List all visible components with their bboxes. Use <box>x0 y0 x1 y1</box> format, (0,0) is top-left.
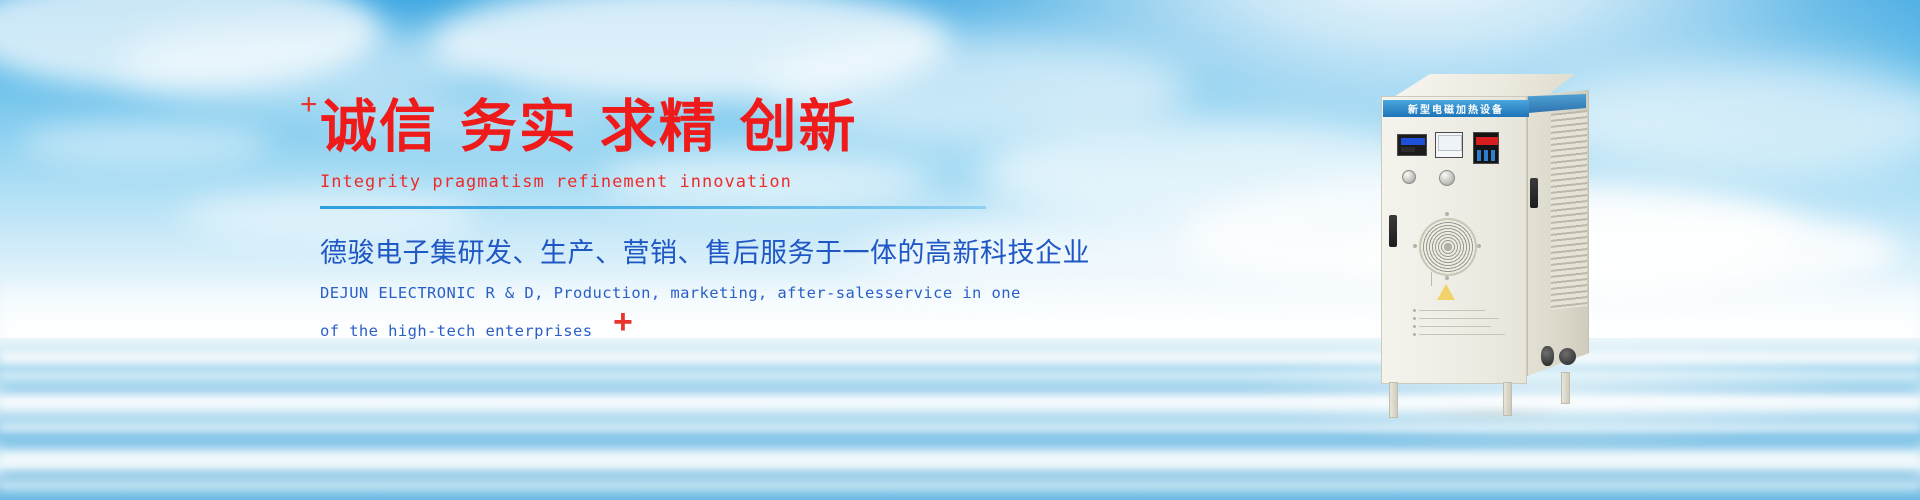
grille-screw <box>1445 276 1449 280</box>
subtitle-english-line1: DEJUN ELECTRONIC R & D, Production, mark… <box>320 279 1020 308</box>
side-door-handle <box>1530 178 1538 208</box>
subtitle-chinese: 德骏电子集研发、生产、营销、售后服务于一体的高新科技企业 <box>320 231 1020 270</box>
control-keypad-panel <box>1473 132 1499 164</box>
spec-text-line <box>1419 326 1491 327</box>
cloud-shape <box>20 120 270 166</box>
gauge-dial <box>1438 135 1462 151</box>
subtitle-english-line2: of the high-tech enterprises <box>320 317 1020 346</box>
tagline-english: Integrity pragmatism refinement innovati… <box>320 172 1020 192</box>
keypad-buttons <box>1477 150 1497 161</box>
hazard-leader-line <box>1431 272 1432 286</box>
spec-bullet <box>1413 317 1416 320</box>
spec-bullet <box>1413 325 1416 328</box>
spec-text-line <box>1419 334 1505 335</box>
machine-vent-louvers <box>1551 110 1587 310</box>
digital-display-meter <box>1397 134 1427 156</box>
analog-gauge-meter <box>1435 132 1463 158</box>
rotary-knob <box>1439 170 1455 186</box>
machine-title-text: 新型电磁加热设备 <box>1408 101 1504 116</box>
door-handle <box>1389 215 1397 247</box>
spec-text-line <box>1419 310 1485 311</box>
rotary-knob <box>1402 170 1416 184</box>
hazard-warning-icon <box>1437 284 1455 300</box>
headline-chinese: 诚信 务实 求精 创新 <box>320 96 1020 160</box>
machine-title-banner: 新型电磁加热设备 <box>1383 100 1529 117</box>
machine-reflection <box>1380 410 1610 444</box>
keypad-display <box>1476 137 1498 145</box>
divider-rule <box>320 206 986 209</box>
cable-port <box>1559 348 1576 365</box>
product-machine-image: 新型电磁加热设备 <box>1375 60 1635 420</box>
grille-screw <box>1413 244 1417 248</box>
display-segment <box>1401 138 1425 145</box>
grille-screw <box>1445 212 1449 216</box>
hero-banner: + + 诚信 务实 求精 创新 Integrity pragmatism ref… <box>0 0 1920 500</box>
display-segment-secondary <box>1401 147 1415 152</box>
plus-mark-icon: + <box>300 90 318 120</box>
spec-bullet <box>1413 309 1416 312</box>
spec-text-line <box>1419 318 1499 319</box>
fan-grille <box>1419 218 1477 276</box>
banner-copy-block: 诚信 务实 求精 创新 Integrity pragmatism refinem… <box>320 96 1020 345</box>
grille-screw <box>1477 244 1481 248</box>
machine-leg <box>1561 372 1570 404</box>
cable-port <box>1541 346 1554 366</box>
spec-bullet <box>1413 333 1416 336</box>
